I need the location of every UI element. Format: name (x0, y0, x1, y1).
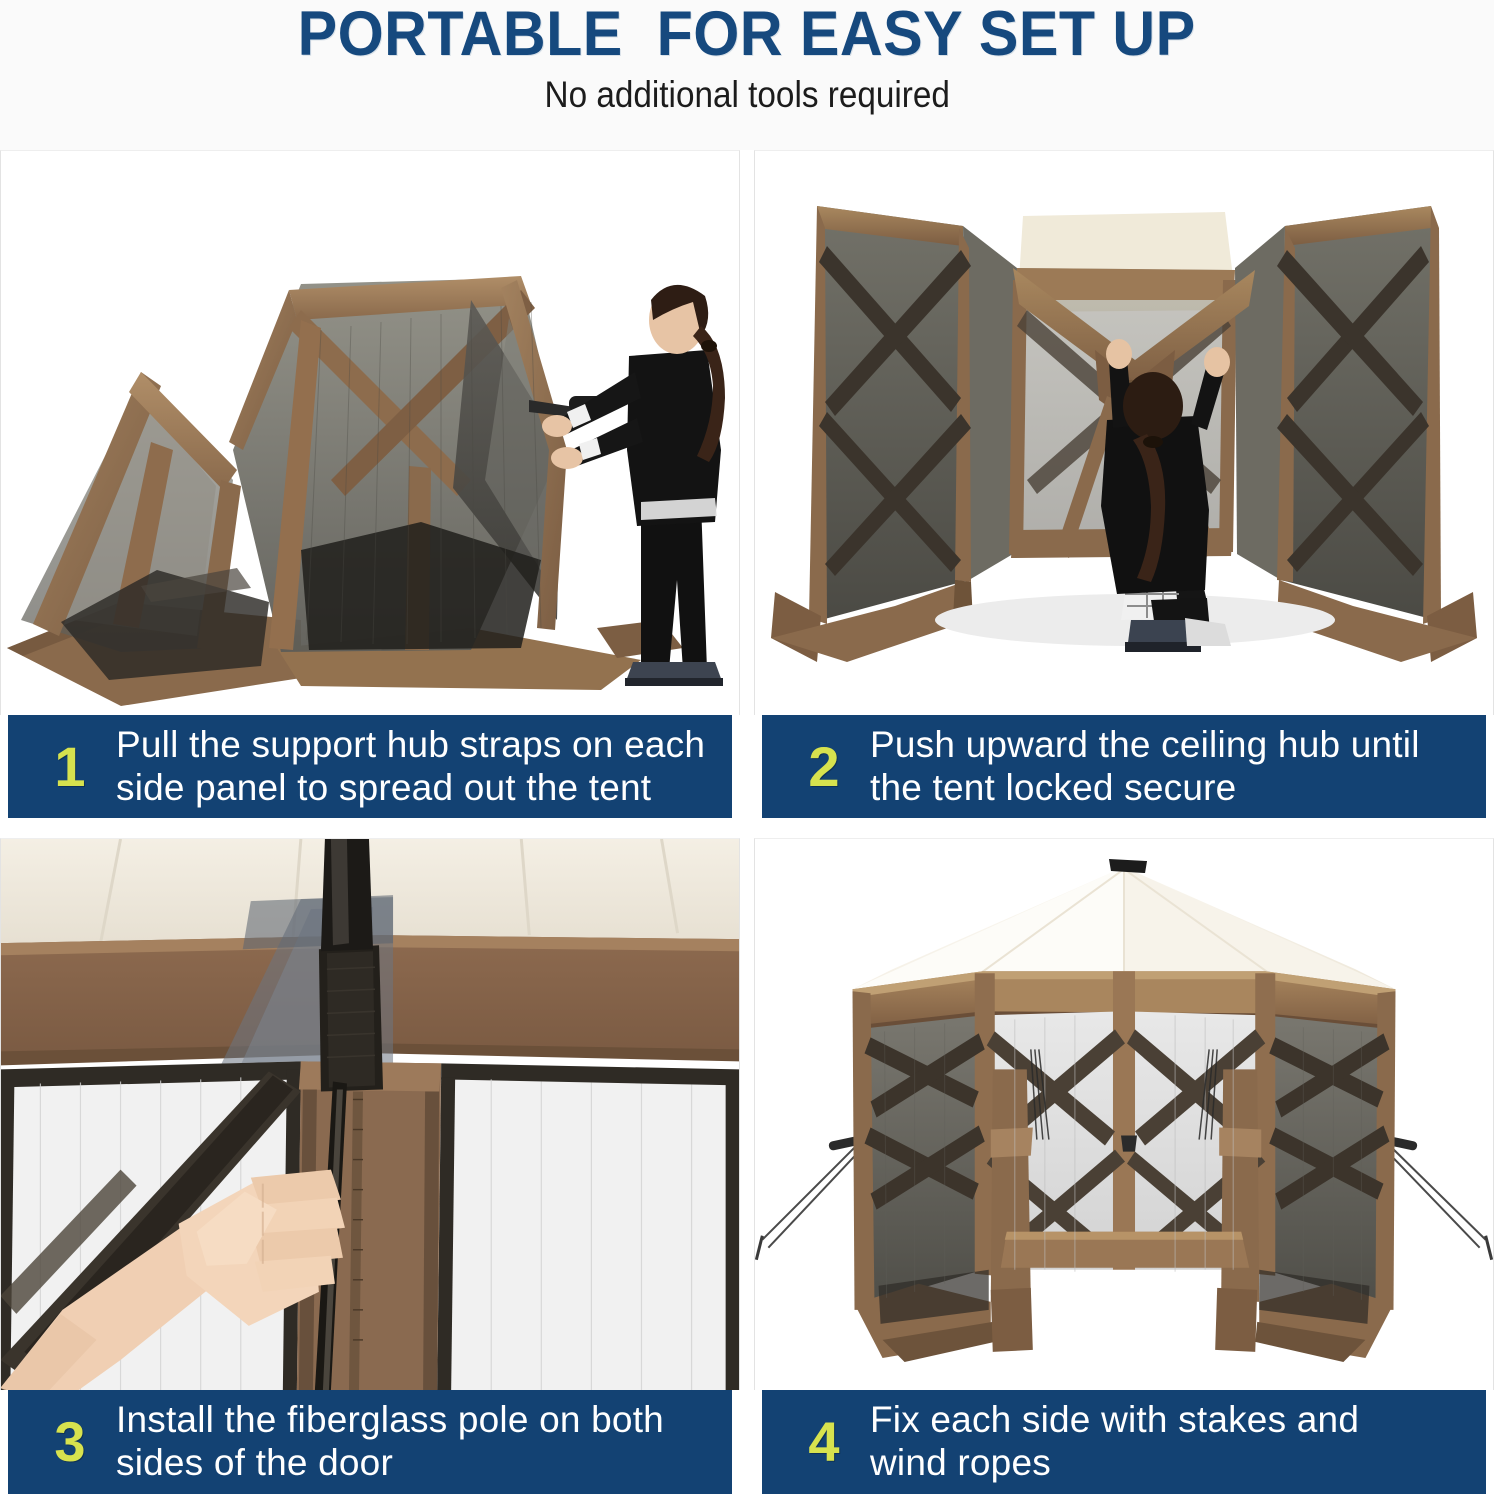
step-3-number: 3 (42, 1414, 98, 1470)
assembled-gazebo-illustration (755, 839, 1493, 1390)
step-3-text: Install the fiberglass pole on both side… (116, 1399, 664, 1485)
step-1-number: 1 (42, 739, 98, 795)
tent-hub-push-illustration (755, 151, 1493, 715)
fiberglass-pole-closeup-illustration (1, 839, 739, 1390)
step-2-text: Push upward the ceiling hub until the te… (870, 724, 1420, 810)
page-subtitle: No additional tools required (544, 74, 949, 116)
step-1-caption: 1 Pull the support hub straps on each si… (8, 715, 732, 818)
step-4-photo (754, 838, 1494, 1390)
step-4-caption: 4 Fix each side with stakes and wind rop… (762, 1390, 1486, 1494)
step-2-number: 2 (796, 739, 852, 795)
steps-grid: 1 Pull the support hub straps on each si… (0, 150, 1494, 1494)
step-3-photo (0, 838, 740, 1390)
step-3-caption: 3 Install the fiberglass pole on both si… (8, 1390, 732, 1494)
step-1-text: Pull the support hub straps on each side… (116, 724, 705, 810)
step-card-3: 3 Install the fiberglass pole on both si… (0, 838, 740, 1494)
page-title: PORTABLE FOR EASY SET UP (298, 2, 1196, 66)
step-card-2: 2 Push upward the ceiling hub until the … (754, 150, 1494, 818)
step-4-number: 4 (796, 1414, 852, 1470)
step-card-1: 1 Pull the support hub straps on each si… (0, 150, 740, 818)
step-2-caption: 2 Push upward the ceiling hub until the … (762, 715, 1486, 818)
tent-unfolding-illustration (1, 151, 739, 715)
step-2-photo (754, 150, 1494, 715)
step-4-text: Fix each side with stakes and wind ropes (870, 1399, 1359, 1485)
step-1-photo (0, 150, 740, 715)
page-header: PORTABLE FOR EASY SET UP No additional t… (0, 0, 1494, 150)
step-card-4: 4 Fix each side with stakes and wind rop… (754, 838, 1494, 1494)
